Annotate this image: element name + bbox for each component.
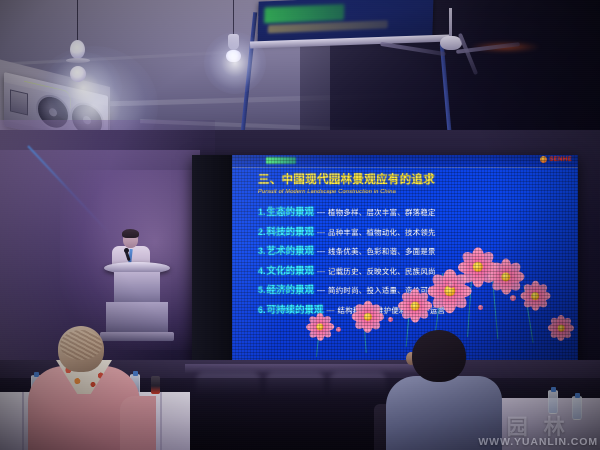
lamp-housing [228, 34, 239, 50]
photo-scene: SENHE 三、中国现代园林景观应有的追求 Pursuit of Modern … [0, 0, 600, 450]
bullet-number: 6. [258, 305, 266, 315]
slide-bullet-item: 5. 经济的景观 — 简约时尚、投入适量、造价可控 [258, 282, 570, 296]
slide-subtitle: Pursuit of Modern Landscape Construction… [258, 189, 570, 195]
flower-stem [316, 317, 322, 357]
flower-petal [318, 325, 333, 340]
slide-header-bar: SENHE [232, 155, 578, 168]
bullet-description: 简约时尚、投入适量、造价可控 [328, 285, 436, 296]
flower-center [558, 325, 565, 332]
slide-bullet-item: 4. 文化的景观 — 记载历史、反映文化、民族风尚 [258, 263, 570, 277]
ceiling-beam [0, 49, 260, 66]
slide-header-badge [266, 157, 296, 164]
flower-petal [316, 328, 324, 341]
lamp-cord [77, 0, 78, 42]
flower-center [316, 323, 323, 330]
slide-bullet-list: 1. 生态的景观 — 植物多样、层次丰富、群落稳定 2. 科技的景观 — 品种丰… [258, 204, 570, 316]
bullet-topic: 文化的景观 [267, 263, 315, 277]
flower-bud [336, 327, 341, 332]
bullet-number: 5. [258, 285, 266, 295]
bullet-description: 植物多样、层次丰富、群落稳定 [328, 207, 436, 218]
bullet-dash: — [317, 286, 325, 295]
water-bottle [572, 396, 582, 420]
led-screen-wall: SENHE 三、中国现代园林景观应有的追求 Pursuit of Modern … [192, 155, 578, 365]
slide-body: 三、中国现代园林景观应有的追求 Pursuit of Modern Landsc… [258, 171, 570, 322]
senhe-logo: SENHE [540, 156, 572, 163]
flower-petal [548, 324, 560, 332]
podium-foot [100, 332, 174, 341]
presentation-slide: SENHE 三、中国现代园林景观应有的追求 Pursuit of Modern … [232, 155, 578, 365]
banner-text-green [264, 4, 344, 23]
lamp-shade [66, 58, 90, 63]
flower-petal [557, 329, 565, 341]
senhe-logo-text: SENHE [549, 157, 572, 163]
senhe-logo-mark-icon [540, 156, 547, 163]
bullet-number: 4. [258, 266, 266, 276]
slide-bullet-item: 1. 生态的景观 — 植物多样、层次丰富、群落稳定 [258, 204, 570, 218]
bullet-description: 结构稳定、维护便利、便于运营 [338, 305, 446, 316]
bullet-number: 2. [258, 227, 266, 237]
bullet-dash: — [317, 208, 325, 217]
attendee-right-head [412, 330, 466, 382]
bullet-dash: — [317, 247, 325, 256]
microphone-head [124, 248, 129, 253]
pendant-lamp [226, 50, 241, 62]
podium-base [106, 302, 168, 336]
bullet-dash: — [317, 267, 325, 276]
lamp-cord [233, 0, 234, 36]
slide-title: 三、中国现代园林景观应有的追求 [258, 171, 570, 187]
bullet-topic: 可持续的景观 [267, 302, 324, 316]
attendee-right-body [386, 376, 502, 450]
flower-petal [559, 326, 573, 340]
flower-petal [549, 326, 563, 340]
flower-petal [306, 323, 319, 331]
slide-bullet-item: 3. 艺术的景观 — 线条优美、色彩和谐、多面是景 [258, 243, 570, 257]
flower-petal [562, 324, 574, 332]
slide-bullet-item: 6. 可持续的景观 — 结构稳定、维护便利、便于运营 [258, 302, 570, 316]
attendee-left-hair [60, 330, 102, 360]
flower-petal [321, 323, 334, 331]
bullet-number: 3. [258, 246, 266, 256]
bullet-description: 品种丰富、植物动化、技术领先 [328, 227, 436, 238]
water-bottle [548, 390, 558, 414]
slide-bullet-item: 2. 科技的景观 — 品种丰富、植物动化、技术领先 [258, 224, 570, 238]
bullet-dash: — [327, 306, 335, 315]
bullet-description: 记载历史、反映文化、民族风尚 [328, 266, 436, 277]
led-screen-dark-panel [192, 155, 232, 365]
bullet-number: 1. [258, 207, 266, 217]
speaker-hair [122, 229, 139, 238]
pendant-lamp [70, 66, 86, 82]
beverage-can [151, 376, 160, 394]
podium-body [114, 272, 160, 306]
attendee-left-arm [120, 396, 156, 450]
flower-petal [307, 325, 322, 340]
pendant-lamp [70, 40, 85, 59]
bullet-topic: 科技的景观 [267, 224, 315, 238]
bullet-description: 线条优美、色彩和谐、多面是景 [328, 246, 436, 257]
bullet-dash: — [317, 228, 325, 237]
bullet-topic: 经济的景观 [267, 282, 315, 296]
ceiling-fan-rod [449, 8, 452, 38]
bullet-topic: 生态的景观 [267, 204, 315, 218]
bullet-topic: 艺术的景观 [267, 243, 315, 257]
